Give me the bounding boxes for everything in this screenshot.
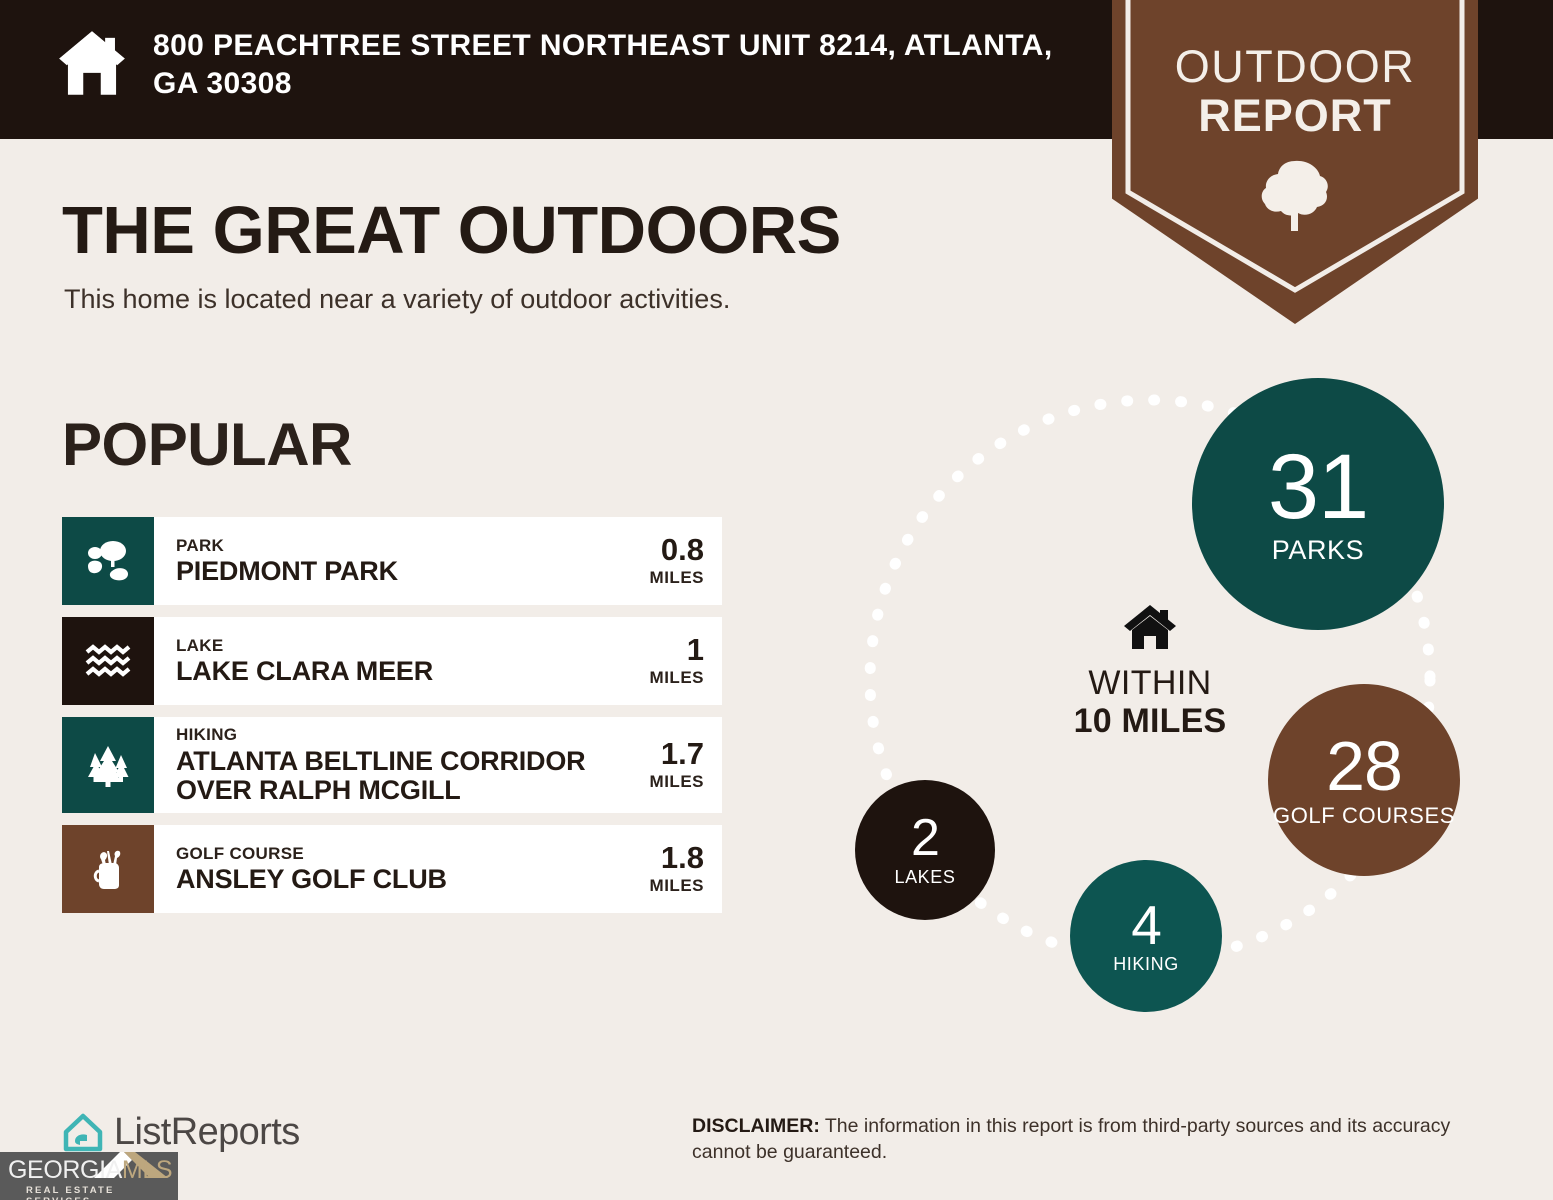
listreports-logo[interactable]: ListReports [60,1110,300,1154]
page-title: THE GREAT OUTDOORS [62,192,841,269]
popular-list: PARK PIEDMONT PARK 0.8 MILES LAKE [62,517,722,925]
mls-name-georgia: GEORGIA [8,1156,122,1184]
list-item-category: LAKE [176,636,433,656]
list-item[interactable]: HIKING ATLANTA BELTLINE CORRIDOR OVER RA… [62,717,722,813]
mls-wordmark: GEORGIAMLS [8,1158,172,1183]
popular-heading: POPULAR [62,410,352,479]
stat-value: 2 [911,814,939,863]
diagram-center: WITHIN 10 MILES [1015,602,1285,741]
distance-value: 1.8 [650,842,704,873]
property-address: 800 Peachtree Street Northeast Unit 8214… [153,27,1093,103]
stat-bubble-hiking[interactable]: 4 HIKING [1070,860,1222,1012]
list-item[interactable]: GOLF COURSE ANSLEY GOLF CLUB 1.8 MILES [62,825,722,913]
page-subtitle: This home is located near a variety of o… [64,284,730,315]
listreports-name: ListReports [114,1111,300,1154]
badge-line-2: REPORT [1112,93,1478,138]
pine-trees-icon [62,717,154,813]
list-item-category: GOLF COURSE [176,844,447,864]
golf-bag-icon [62,825,154,913]
tree-icon [1255,157,1335,235]
stat-label: HIKING [1113,955,1179,973]
badge-title: OUTDOOR REPORT [1112,44,1478,138]
list-item-name: ANSLEY GOLF CLUB [176,865,447,894]
list-item-body: GOLF COURSE ANSLEY GOLF CLUB 1.8 MILES [154,825,722,913]
within-10-miles-diagram: 31 PARKS 28 GOLF COURSES 4 HIKING 2 LAKE… [820,370,1480,1030]
list-item-body: HIKING ATLANTA BELTLINE CORRIDOR OVER RA… [154,717,722,813]
disclaimer: DISCLAIMER: The information in this repo… [692,1113,1502,1166]
list-item-text: GOLF COURSE ANSLEY GOLF CLUB [176,844,447,895]
distance-unit: MILES [650,876,704,896]
distance-unit: MILES [650,668,704,688]
list-item-name: PIEDMONT PARK [176,557,398,586]
park-trees-icon [62,517,154,605]
stat-label: LAKES [894,868,955,886]
within-label: WITHIN [1015,666,1285,702]
outdoor-report-page: 800 Peachtree Street Northeast Unit 8214… [0,0,1553,1200]
house-outline-icon [60,1110,106,1154]
georgia-mls-logo[interactable]: GEORGIAMLS REAL ESTATE SERVICES [0,1152,178,1200]
stat-label: PARKS [1272,537,1365,565]
list-item-name: LAKE CLARA MEER [176,657,433,686]
list-item-distance: 1 MILES [640,634,704,688]
disclaimer-label: DISCLAIMER: [692,1115,820,1137]
mls-tagline: REAL ESTATE SERVICES [26,1185,178,1200]
list-item-distance: 1.7 MILES [640,738,704,792]
header-content: 800 Peachtree Street Northeast Unit 8214… [57,27,1093,103]
home-icon [57,29,127,97]
stat-value: 31 [1268,444,1368,531]
distance-value: 0.8 [650,534,704,565]
distance-unit: MILES [650,568,704,588]
list-item-name: ATLANTA BELTLINE CORRIDOR OVER RALPH MCG… [176,747,640,805]
list-item[interactable]: LAKE LAKE CLARA MEER 1 MILES [62,617,722,705]
list-item-body: PARK PIEDMONT PARK 0.8 MILES [154,517,722,605]
list-item-distance: 1.8 MILES [640,842,704,896]
home-icon [1122,602,1178,654]
list-item-text: HIKING ATLANTA BELTLINE CORRIDOR OVER RA… [176,725,640,805]
distance-value: 1.7 [650,738,704,769]
miles-label: 10 MILES [1015,702,1285,741]
list-item-text: PARK PIEDMONT PARK [176,536,398,587]
mls-name-mls: MLS [122,1156,172,1184]
distance-value: 1 [650,634,704,665]
badge-line-1: OUTDOOR [1112,44,1478,89]
water-waves-icon [62,617,154,705]
stat-value: 4 [1131,899,1161,951]
stat-bubble-golf-courses[interactable]: 28 GOLF COURSES [1268,684,1460,876]
stat-bubble-lakes[interactable]: 2 LAKES [855,780,995,920]
distance-unit: MILES [650,772,704,792]
list-item-body: LAKE LAKE CLARA MEER 1 MILES [154,617,722,705]
stat-label: GOLF COURSES [1273,805,1455,827]
stat-value: 28 [1326,733,1402,800]
list-item-category: HIKING [176,725,640,745]
list-item-category: PARK [176,536,398,556]
list-item-distance: 0.8 MILES [640,534,704,588]
list-item[interactable]: PARK PIEDMONT PARK 0.8 MILES [62,517,722,605]
list-item-text: LAKE LAKE CLARA MEER [176,636,433,687]
stat-bubble-parks[interactable]: 31 PARKS [1192,378,1444,630]
